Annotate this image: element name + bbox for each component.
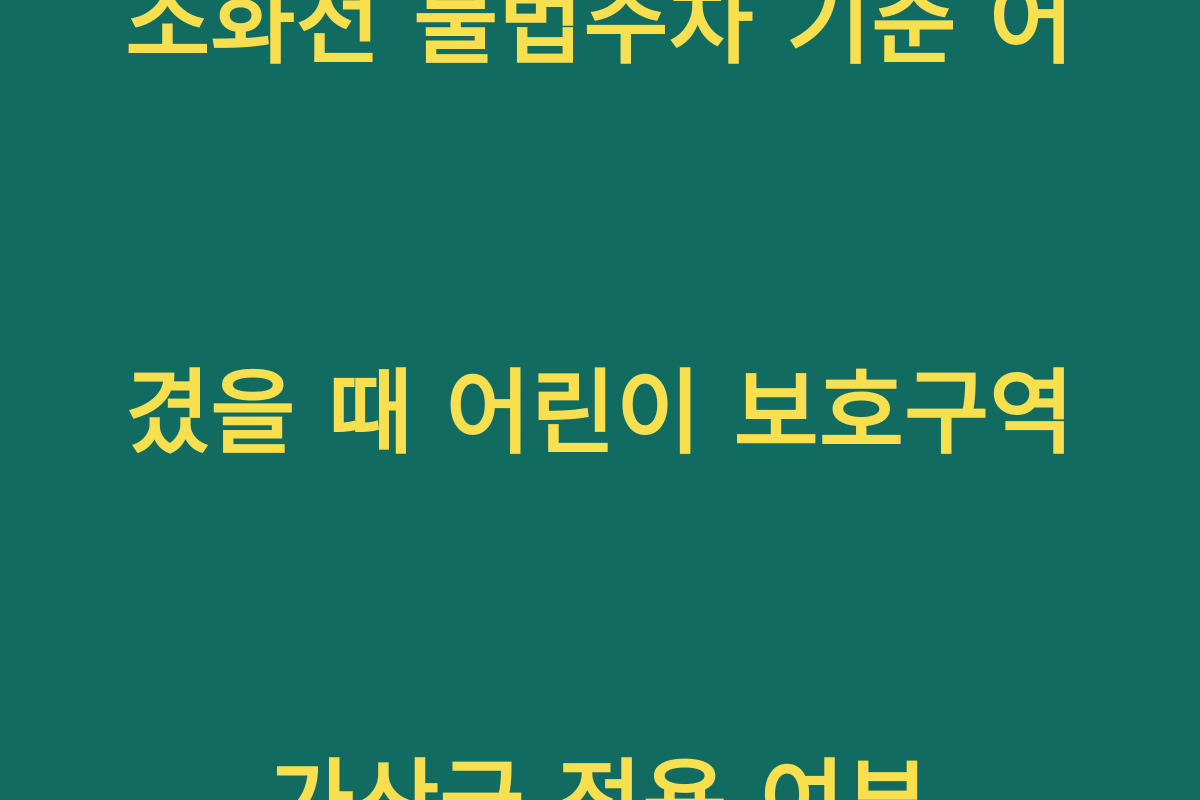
headline-line-3: 가산금 적용 여부 bbox=[80, 739, 1120, 800]
headline-line-1: 소화전 불법주차 기준 어 bbox=[80, 0, 1120, 89]
headline-line-2: 겼을 때 어린이 보호구역 bbox=[80, 349, 1120, 479]
headline: 소화전 불법주차 기준 어 겼을 때 어린이 보호구역 가산금 적용 여부 bbox=[80, 0, 1120, 800]
title-card: 소화전 불법주차 기준 어 겼을 때 어린이 보호구역 가산금 적용 여부 bbox=[0, 0, 1200, 800]
